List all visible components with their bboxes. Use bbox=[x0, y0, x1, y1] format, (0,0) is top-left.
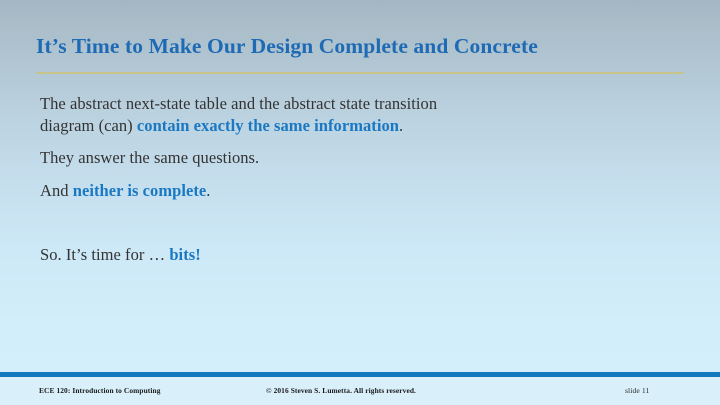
slide-footer: ECE 120: Introduction to Computing © 201… bbox=[0, 377, 720, 405]
footer-course-label: ECE 120: Introduction to Computing bbox=[39, 386, 161, 395]
paragraph-2-text: They answer the same questions. bbox=[40, 148, 259, 167]
title-block: It’s Time to Make Our Design Complete an… bbox=[36, 33, 686, 59]
paragraph-3-lead: And bbox=[40, 181, 73, 200]
footer-copyright-label: © 2016 Steven S. Lumetta. All rights res… bbox=[266, 386, 416, 395]
paragraph-4-lead: So. It’s time for … bbox=[40, 245, 169, 264]
paragraph-3-emphasis: neither is complete bbox=[73, 181, 207, 200]
body-paragraph-2: They answer the same questions. bbox=[40, 147, 660, 169]
paragraph-3-tail: . bbox=[206, 181, 210, 200]
paragraph-1-emphasis: contain exactly the same information bbox=[137, 116, 399, 135]
body-paragraph-4: So. It’s time for … bits! bbox=[40, 244, 660, 266]
paragraph-4-emphasis: bits! bbox=[169, 245, 200, 264]
title-underline-rule bbox=[36, 72, 684, 74]
slide-body: The abstract next-state table and the ab… bbox=[40, 93, 660, 266]
body-paragraph-1: The abstract next-state table and the ab… bbox=[40, 93, 470, 136]
presentation-slide: It’s Time to Make Our Design Complete an… bbox=[0, 0, 720, 405]
footer-slide-number: slide 11 bbox=[625, 386, 649, 395]
page-title: It’s Time to Make Our Design Complete an… bbox=[36, 33, 686, 59]
paragraph-1-tail: . bbox=[399, 116, 403, 135]
body-paragraph-3: And neither is complete. bbox=[40, 180, 660, 202]
